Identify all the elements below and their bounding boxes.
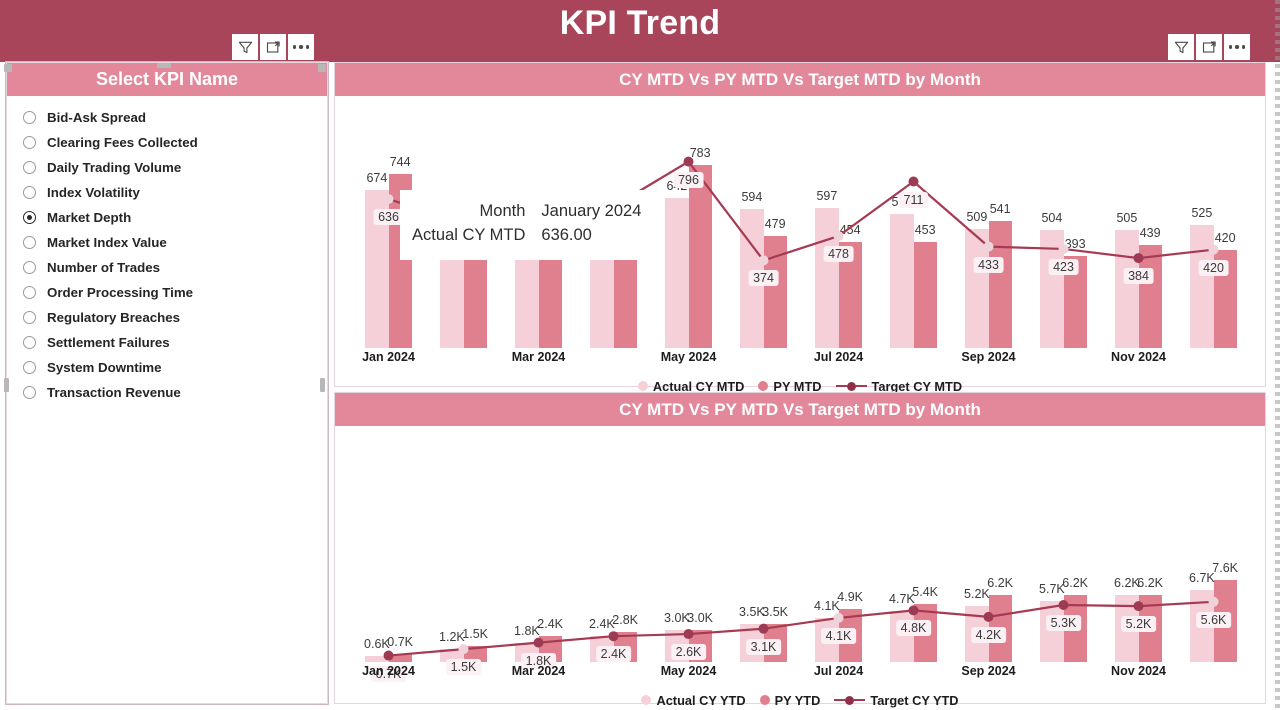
report-page: KPI Trend xyxy=(0,0,1280,710)
target-value-label: 2.4K xyxy=(596,646,632,662)
page-header: KPI Trend xyxy=(0,0,1280,62)
filter-icon[interactable] xyxy=(232,34,258,60)
target-value-label: 711 xyxy=(899,192,929,208)
kpi-item-label: Bid-Ask Spread xyxy=(47,110,146,125)
filter-icon[interactable] xyxy=(1168,34,1194,60)
kpi-item-label: Number of Trades xyxy=(47,260,160,275)
target-value-label: 4.8K xyxy=(896,620,932,636)
target-value-label: 4.2K xyxy=(971,627,1007,643)
target-value-label: 374 xyxy=(748,270,779,286)
radio-button[interactable] xyxy=(23,286,36,299)
radio-button[interactable] xyxy=(23,361,36,374)
legend-swatch xyxy=(758,381,768,391)
legend-label: PY YTD xyxy=(775,693,821,708)
kpi-radio-item[interactable]: Market Depth xyxy=(23,205,327,230)
target-value-label: 5.2K xyxy=(1121,616,1157,632)
kpi-radio-item[interactable]: Daily Trading Volume xyxy=(23,155,327,180)
page-edge-artifact xyxy=(1275,0,1280,710)
xaxis-tick-label: Jan 2024 xyxy=(362,350,415,364)
tooltip-key: Actual CY MTD xyxy=(412,224,525,248)
more-options-icon[interactable] xyxy=(1224,34,1250,60)
kpi-radio-item[interactable]: Clearing Fees Collected xyxy=(23,130,327,155)
kpi-radio-item[interactable]: Bid-Ask Spread xyxy=(23,105,327,130)
target-value-label: 5.3K xyxy=(1046,615,1082,631)
chart-visual-header-icons xyxy=(1168,34,1250,60)
kpi-item-label: System Downtime xyxy=(47,360,162,375)
chart-xaxis-mtd: Jan 2024Mar 2024May 2024Jul 2024Sep 2024… xyxy=(335,348,1265,374)
more-options-icon[interactable] xyxy=(288,34,314,60)
focus-mode-icon[interactable] xyxy=(260,34,286,60)
kpi-item-label: Settlement Failures xyxy=(47,335,170,350)
legend-swatch xyxy=(638,381,648,391)
xaxis-tick-label: Sep 2024 xyxy=(961,664,1015,678)
resize-handle-top-left[interactable] xyxy=(4,64,12,72)
focus-mode-icon[interactable] xyxy=(1196,34,1222,60)
chart-xaxis-ytd: Jan 2024Mar 2024May 2024Jul 2024Sep 2024… xyxy=(335,662,1265,688)
kpi-radio-item[interactable]: System Downtime xyxy=(23,355,327,380)
target-value-label: 4.1K xyxy=(821,628,857,644)
kpi-item-label: Market Depth xyxy=(47,210,131,225)
page-title: KPI Trend xyxy=(0,4,1280,43)
xaxis-tick-label: May 2024 xyxy=(661,664,717,678)
legend-item[interactable]: Actual CY YTD xyxy=(641,693,745,708)
resize-handle-top-right[interactable] xyxy=(318,64,326,72)
kpi-item-label: Order Processing Time xyxy=(47,285,193,300)
kpi-radio-list[interactable]: Bid-Ask SpreadClearing Fees CollectedDai… xyxy=(7,96,327,405)
legend-line-marker xyxy=(836,382,867,391)
kpi-radio-item[interactable]: Index Volatility xyxy=(23,180,327,205)
kpi-radio-item[interactable]: Regulatory Breaches xyxy=(23,305,327,330)
legend-line-marker xyxy=(834,696,865,705)
kpi-radio-item[interactable]: Settlement Failures xyxy=(23,330,327,355)
radio-button[interactable] xyxy=(23,236,36,249)
radio-button[interactable] xyxy=(23,386,36,399)
xaxis-tick-label: Sep 2024 xyxy=(961,350,1015,364)
legend-label: Target CY YTD xyxy=(870,693,958,708)
xaxis-tick-label: Jan 2024 xyxy=(362,664,415,678)
legend-label: Actual CY YTD xyxy=(656,693,745,708)
xaxis-tick-label: Mar 2024 xyxy=(512,664,566,678)
chart-plot-ytd[interactable]: 0.6K1.2K1.8K2.4K3.0K3.5K4.1K4.7K5.2K5.7K… xyxy=(335,426,1265,662)
slicer-visual-header-icons xyxy=(232,34,314,60)
xaxis-tick-label: Jul 2024 xyxy=(814,350,863,364)
target-value-label: 3.1K xyxy=(746,639,782,655)
radio-button[interactable] xyxy=(23,111,36,124)
xaxis-tick-label: Nov 2024 xyxy=(1111,664,1166,678)
radio-button[interactable] xyxy=(23,336,36,349)
target-value-label: 384 xyxy=(1123,268,1154,284)
kpi-radio-item[interactable]: Order Processing Time xyxy=(23,280,327,305)
kpi-radio-item[interactable]: Transaction Revenue xyxy=(23,380,327,405)
xaxis-tick-label: Mar 2024 xyxy=(512,350,566,364)
chart-tooltip: MonthJanuary 2024Actual CY MTD636.00 xyxy=(400,190,655,260)
resize-handle-top-center[interactable] xyxy=(157,63,171,68)
xaxis-tick-label: Nov 2024 xyxy=(1111,350,1166,364)
resize-handle-middle-left[interactable] xyxy=(4,378,9,392)
target-value-label: 478 xyxy=(823,246,854,262)
resize-handle-middle-right[interactable] xyxy=(320,378,325,392)
kpi-item-label: Clearing Fees Collected xyxy=(47,135,198,150)
chart-title-ytd: CY MTD Vs PY MTD Vs Target MTD by Month xyxy=(335,393,1265,426)
xaxis-tick-label: May 2024 xyxy=(661,350,717,364)
kpi-item-label: Index Volatility xyxy=(47,185,140,200)
xaxis-tick-label: Jul 2024 xyxy=(814,664,863,678)
kpi-item-label: Regulatory Breaches xyxy=(47,310,180,325)
radio-button[interactable] xyxy=(23,311,36,324)
target-value-label: 796 xyxy=(673,172,704,188)
kpi-radio-item[interactable]: Number of Trades xyxy=(23,255,327,280)
kpi-item-label: Transaction Revenue xyxy=(47,385,181,400)
legend-swatch xyxy=(760,695,770,705)
kpi-slicer-panel[interactable]: Select KPI Name Bid-Ask SpreadClearing F… xyxy=(6,62,328,704)
tooltip-value: 636.00 xyxy=(541,224,641,248)
tooltip-value: January 2024 xyxy=(541,200,641,224)
radio-button[interactable] xyxy=(23,186,36,199)
legend-swatch xyxy=(641,695,651,705)
chart-title-mtd: CY MTD Vs PY MTD Vs Target MTD by Month xyxy=(335,63,1265,96)
legend-item[interactable]: Target CY YTD xyxy=(834,693,958,708)
target-value-label: 433 xyxy=(973,257,1004,273)
radio-button[interactable] xyxy=(23,136,36,149)
kpi-radio-item[interactable]: Market Index Value xyxy=(23,230,327,255)
radio-button[interactable] xyxy=(23,261,36,274)
radio-button[interactable] xyxy=(23,161,36,174)
legend-item[interactable]: PY YTD xyxy=(760,693,821,708)
target-value-label: 420 xyxy=(1198,260,1229,276)
kpi-item-label: Market Index Value xyxy=(47,235,167,250)
kpi-item-label: Daily Trading Volume xyxy=(47,160,181,175)
target-value-label: 423 xyxy=(1048,259,1079,275)
chart-card-ytd: CY MTD Vs PY MTD Vs Target MTD by Month … xyxy=(334,392,1266,704)
target-value-label: 5.6K xyxy=(1196,612,1232,628)
target-value-label: 2.6K xyxy=(671,644,707,660)
tooltip-key: Month xyxy=(412,200,525,224)
radio-button-selected[interactable] xyxy=(23,211,36,224)
chart-legend-ytd[interactable]: Actual CY YTDPY YTDTarget CY YTD xyxy=(335,688,1265,710)
